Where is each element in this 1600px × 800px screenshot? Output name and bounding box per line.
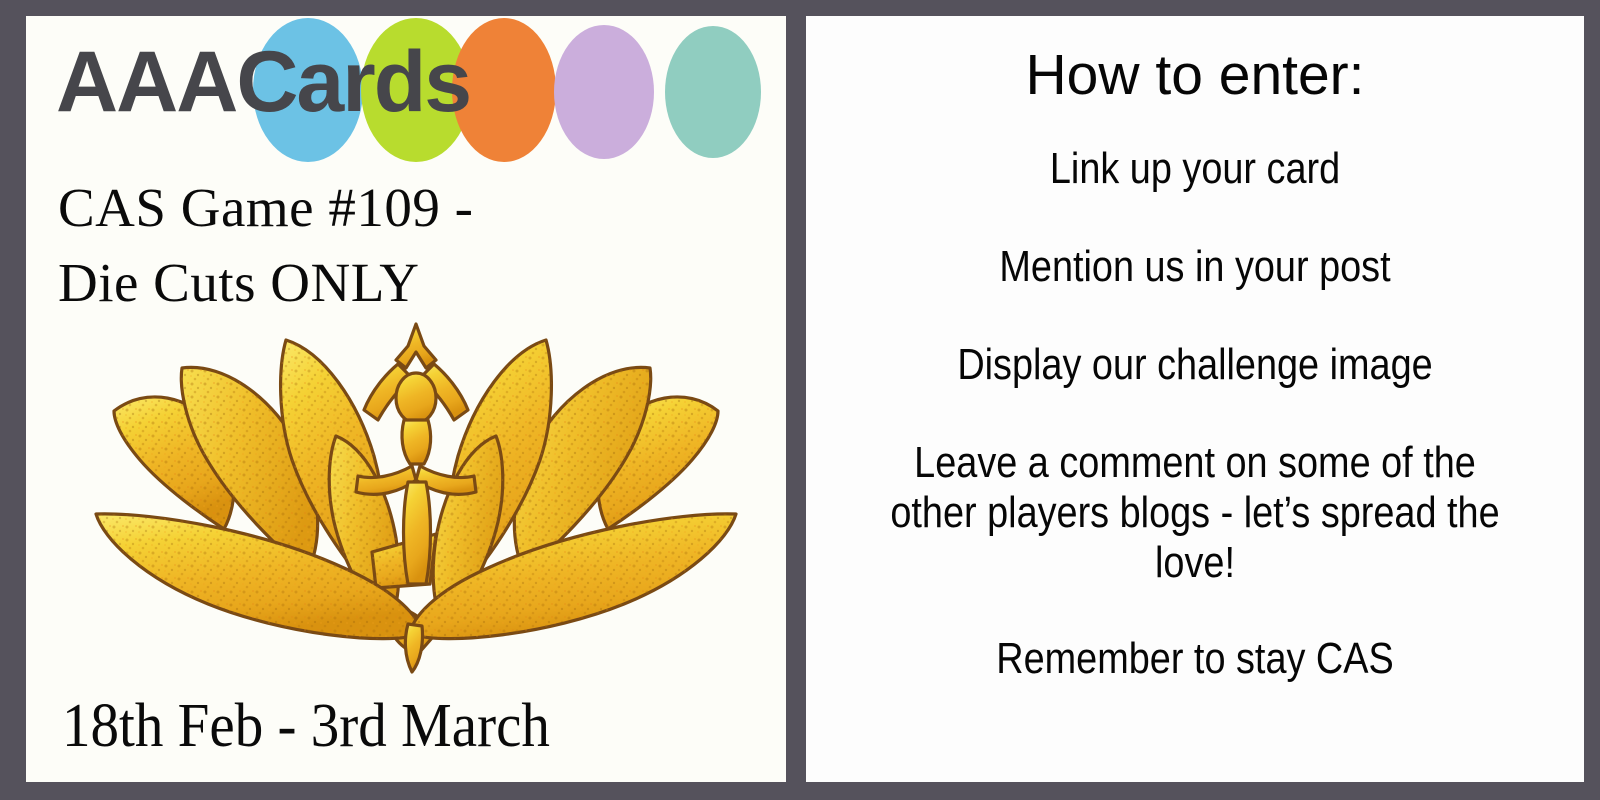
aaa-cards-logo: AAACards [26, 16, 786, 164]
page-title-line-1: CAS Game #109 - [58, 170, 758, 245]
enter-step-4: Leave a comment on some of the other pla… [877, 438, 1513, 588]
lotus-stem-knot [405, 624, 422, 672]
left-challenge-card: AAACards CAS Game #109 - Die Cuts ONLY [26, 16, 786, 782]
how-to-enter-heading: How to enter: [1026, 40, 1365, 110]
page-title-line-2: Die Cuts ONLY [58, 245, 758, 320]
logo-wordmark: AAACards [56, 30, 756, 140]
enter-step-2: Mention us in your post [877, 242, 1513, 292]
page-title: CAS Game #109 - Die Cuts ONLY [58, 170, 758, 320]
how-to-enter-card: How to enter: Link up your card Mention … [806, 16, 1584, 782]
golden-lotus-die-cut-icon [86, 316, 746, 681]
challenge-dates: 18th Feb - 3rd March [62, 688, 706, 764]
enter-step-3: Display our challenge image [877, 340, 1513, 390]
challenge-banner: AAACards CAS Game #109 - Die Cuts ONLY [0, 0, 1600, 800]
enter-step-5: Remember to stay CAS [877, 634, 1513, 684]
enter-step-1: Link up your card [877, 144, 1513, 194]
lotus-illustration [86, 316, 746, 681]
